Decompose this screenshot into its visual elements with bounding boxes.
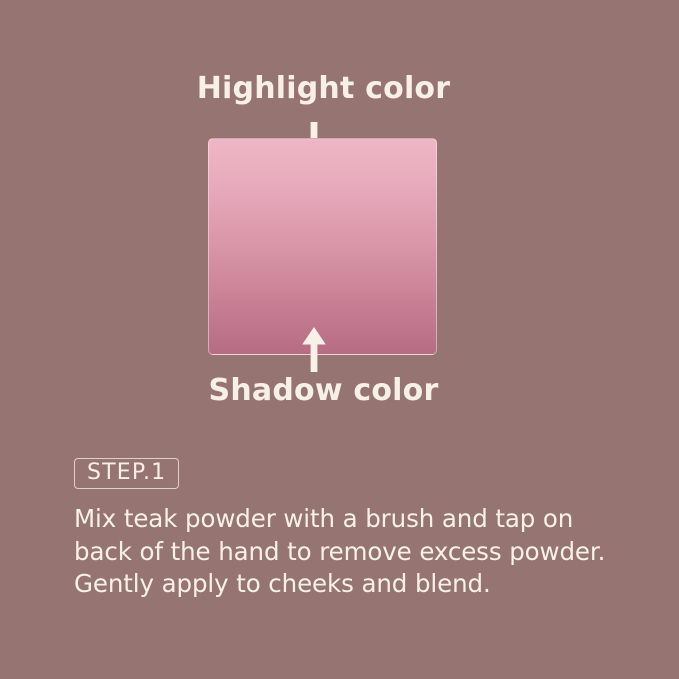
arrow-up-icon: [299, 326, 329, 372]
shadow-color-label: Shadow color: [0, 376, 679, 406]
product-instruction-card: Highlight color Shadow color STEP.1 Mix …: [0, 0, 679, 679]
highlight-color-label: Highlight color: [0, 74, 679, 104]
blush-gradient-swatch: [208, 138, 437, 355]
step-description-text: Mix teak powder with a brush and tap on …: [74, 503, 614, 601]
shadow-color-label-text: Shadow color: [209, 376, 439, 406]
highlight-color-label-text: Highlight color: [197, 74, 451, 104]
step-caption-block: STEP.1 Mix teak powder with a brush and …: [74, 458, 614, 601]
color-gradient-diagram: Highlight color Shadow color: [0, 0, 679, 430]
step-badge: STEP.1: [74, 458, 179, 489]
